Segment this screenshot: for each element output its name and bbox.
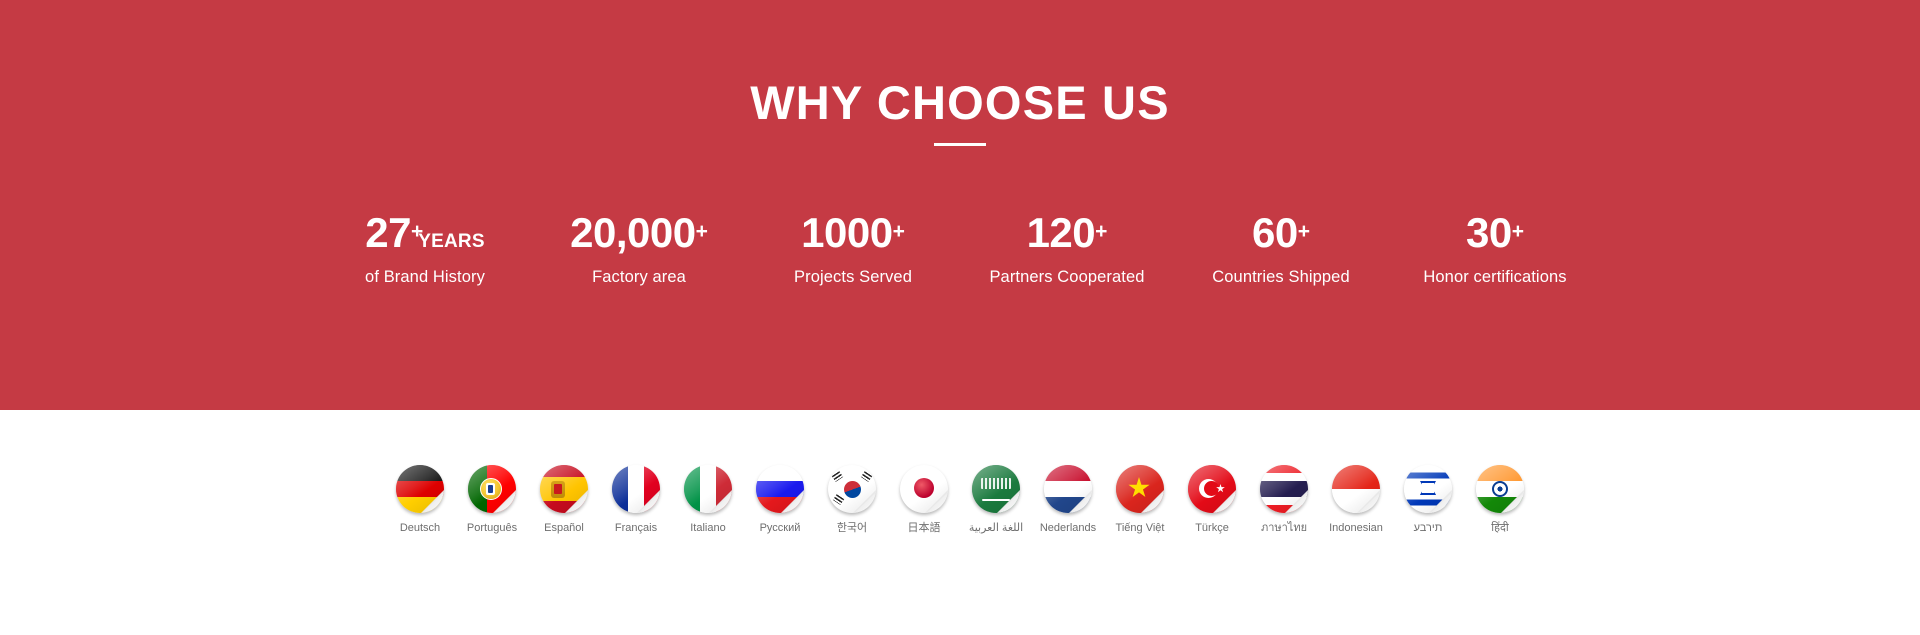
stat-countries-shipped: 60+ Countries Shipped	[1174, 212, 1388, 287]
language-label: Français	[615, 522, 657, 535]
stat-plus-sign: +	[696, 220, 708, 243]
stat-value: 120+	[960, 212, 1174, 258]
stat-number: 27	[365, 209, 411, 256]
language-option-espanol[interactable]: Español	[528, 465, 600, 535]
language-option-thai[interactable]: ภาษาไทย	[1248, 465, 1320, 535]
language-option-francais[interactable]: Français	[600, 465, 672, 535]
flag-spain-icon[interactable]	[540, 465, 588, 513]
stat-label: Projects Served	[746, 268, 960, 287]
language-option-deutsch[interactable]: Deutsch	[384, 465, 456, 535]
language-option-arabic[interactable]: اللغة العربية	[960, 465, 1032, 535]
flag-netherlands-icon[interactable]	[1044, 465, 1092, 513]
stat-value: 60+	[1174, 212, 1388, 258]
stat-number: 60	[1252, 209, 1298, 256]
page-title: WHY CHOOSE US	[0, 77, 1920, 130]
language-option-turkish[interactable]: Türkçe	[1176, 465, 1248, 535]
language-label: תירבע	[1414, 522, 1443, 535]
flag-japan-icon[interactable]	[900, 465, 948, 513]
why-choose-us-page: WHY CHOOSE US 27+YEARS of Brand History …	[0, 0, 1920, 635]
language-label: Indonesian	[1329, 522, 1383, 535]
flag-vietnam-icon[interactable]	[1116, 465, 1164, 513]
stat-value: 1000+	[746, 212, 960, 258]
korea-taeguk-icon	[844, 481, 861, 498]
stat-number: 20,000	[570, 209, 695, 256]
language-option-hindi[interactable]: हिंदी	[1464, 465, 1536, 535]
stat-honor-certifications: 30+ Honor certifications	[1388, 212, 1602, 287]
japan-sun-icon	[914, 478, 934, 498]
stats-row: 27+YEARS of Brand History 20,000+ Factor…	[0, 212, 1920, 287]
flag-russia-icon[interactable]	[756, 465, 804, 513]
language-label: Nederlands	[1040, 522, 1096, 535]
stat-number: 120	[1027, 209, 1096, 256]
flag-india-icon[interactable]	[1476, 465, 1524, 513]
stat-plus-sign: +	[1095, 220, 1107, 243]
korea-trigram-icon	[833, 494, 844, 505]
hero-section: WHY CHOOSE US 27+YEARS of Brand History …	[0, 0, 1920, 410]
turkey-crescent-cut	[1204, 481, 1219, 496]
language-label: Tiếng Việt	[1116, 522, 1165, 535]
stat-plus-sign: +	[1298, 220, 1310, 243]
language-label: ภาษาไทย	[1261, 522, 1307, 535]
language-label: Türkçe	[1195, 522, 1229, 535]
ashoka-chakra-icon	[1492, 481, 1508, 497]
stat-value: 27+YEARS	[318, 212, 532, 258]
stat-value: 20,000+	[532, 212, 746, 258]
language-option-russian[interactable]: Русский	[744, 465, 816, 535]
stat-label: Countries Shipped	[1174, 268, 1388, 287]
star-of-david-icon	[1420, 481, 1436, 497]
spain-emblem-icon	[551, 481, 565, 498]
stat-plus-sign: +	[1512, 220, 1524, 243]
language-option-japanese[interactable]: 日本語	[888, 465, 960, 535]
title-divider	[934, 143, 986, 146]
language-label: Русский	[760, 522, 801, 535]
stat-label: of Brand History	[318, 268, 532, 287]
language-option-indonesian[interactable]: Indonesian	[1320, 465, 1392, 535]
flag-germany-icon[interactable]	[396, 465, 444, 513]
language-option-hebrew[interactable]: תירבע	[1392, 465, 1464, 535]
stat-partners-cooperated: 120+ Partners Cooperated	[960, 212, 1174, 287]
language-option-portugues[interactable]: Português	[456, 465, 528, 535]
korea-trigram-icon	[832, 471, 843, 482]
flag-saudi-arabia-icon[interactable]	[972, 465, 1020, 513]
flag-italy-icon[interactable]	[684, 465, 732, 513]
flag-turkey-icon[interactable]	[1188, 465, 1236, 513]
stat-factory-area: 20,000+ Factory area	[532, 212, 746, 287]
language-label: Español	[544, 522, 584, 535]
flag-south-korea-icon[interactable]	[828, 465, 876, 513]
stat-value: 30+	[1388, 212, 1602, 258]
stat-plus-sign: +	[893, 220, 905, 243]
arabic-shahada-icon	[981, 478, 1011, 489]
arabic-sword-icon	[982, 499, 1010, 502]
stat-label: Partners Cooperated	[960, 268, 1174, 287]
language-label: Italiano	[690, 522, 725, 535]
portugal-emblem-icon	[480, 478, 502, 500]
stat-suffix: YEARS	[418, 231, 484, 252]
flag-portugal-icon[interactable]	[468, 465, 516, 513]
stat-projects-served: 1000+ Projects Served	[746, 212, 960, 287]
stat-brand-history: 27+YEARS of Brand History	[318, 212, 532, 287]
language-option-vietnamese[interactable]: Tiếng Việt	[1104, 465, 1176, 535]
stat-label: Factory area	[532, 268, 746, 287]
language-option-italiano[interactable]: Italiano	[672, 465, 744, 535]
stat-plus-sign: +	[411, 220, 423, 243]
korea-trigram-icon	[861, 471, 872, 482]
stat-number: 30	[1466, 209, 1512, 256]
flag-indonesia-icon[interactable]	[1332, 465, 1380, 513]
flag-thailand-icon[interactable]	[1260, 465, 1308, 513]
language-label: اللغة العربية	[969, 522, 1023, 535]
flag-france-icon[interactable]	[612, 465, 660, 513]
language-label: Deutsch	[400, 522, 440, 535]
language-label: 한국어	[837, 522, 867, 535]
language-label: 日本語	[908, 522, 941, 535]
language-label: Português	[467, 522, 517, 535]
stat-label: Honor certifications	[1388, 268, 1602, 287]
flag-israel-icon[interactable]	[1404, 465, 1452, 513]
stat-number: 1000	[801, 209, 892, 256]
language-label: हिंदी	[1491, 522, 1508, 535]
language-option-nederlands[interactable]: Nederlands	[1032, 465, 1104, 535]
language-option-korean[interactable]: 한국어	[816, 465, 888, 535]
vietnam-star-icon	[1128, 477, 1150, 499]
language-selector-strip: Deutsch Português Español Français	[0, 465, 1920, 535]
